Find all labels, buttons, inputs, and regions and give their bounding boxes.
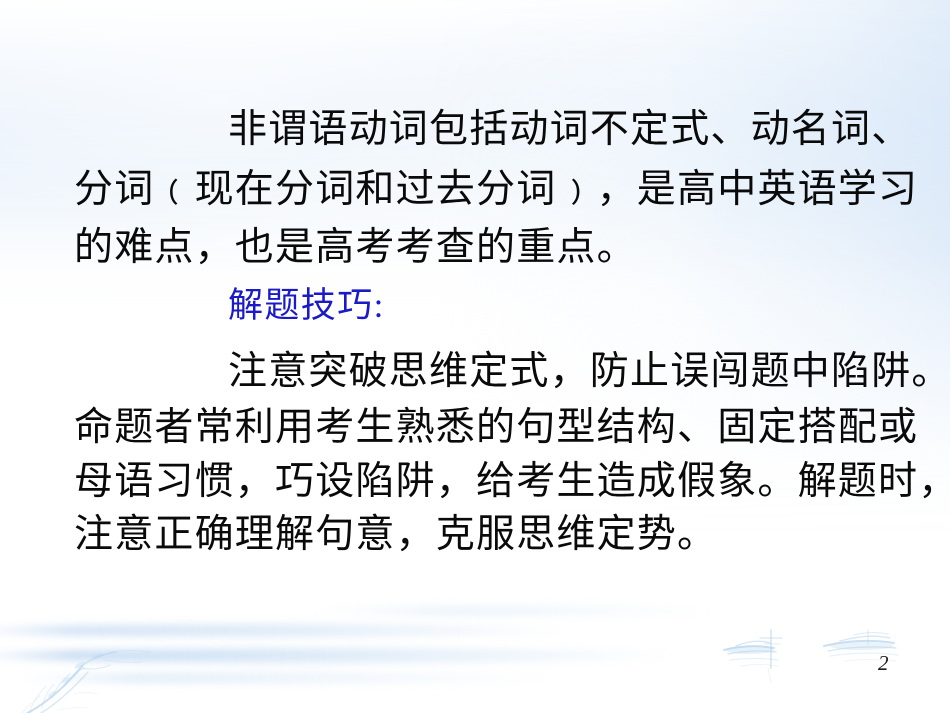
paragraph-1-line-3: 的难点，也是高考考查的重点。 — [74, 228, 637, 267]
section-heading-tips: 解题技巧: — [228, 288, 385, 323]
slide-canvas: 非谓语动词包括动词不定式、动名词、 分词﹙现在分词和过去分词﹚，是高中英语学习 … — [0, 0, 950, 713]
page-number: 2 — [878, 651, 889, 676]
paragraph-2-line-2: 命题者常利用考生熟悉的句型结构、固定搭配或 — [74, 408, 918, 447]
paragraph-2-line-4: 注意正确理解句意，克服思维定势。 — [74, 515, 717, 554]
paragraph-1-line-1: 非谓语动词包括动词不定式、动名词、 — [228, 110, 911, 149]
paragraph-2-line-3: 母语习惯，巧设陷阱，给考生造成假象。解题时， — [74, 462, 950, 501]
slide-text-body: 非谓语动词包括动词不定式、动名词、 分词﹙现在分词和过去分词﹚，是高中英语学习 … — [0, 0, 950, 713]
paragraph-2-line-1: 注意突破思维定式，防止误闯题中陷阱。 — [228, 352, 950, 391]
paragraph-1-line-2: 分词﹙现在分词和过去分词﹚，是高中英语学习 — [74, 170, 918, 209]
